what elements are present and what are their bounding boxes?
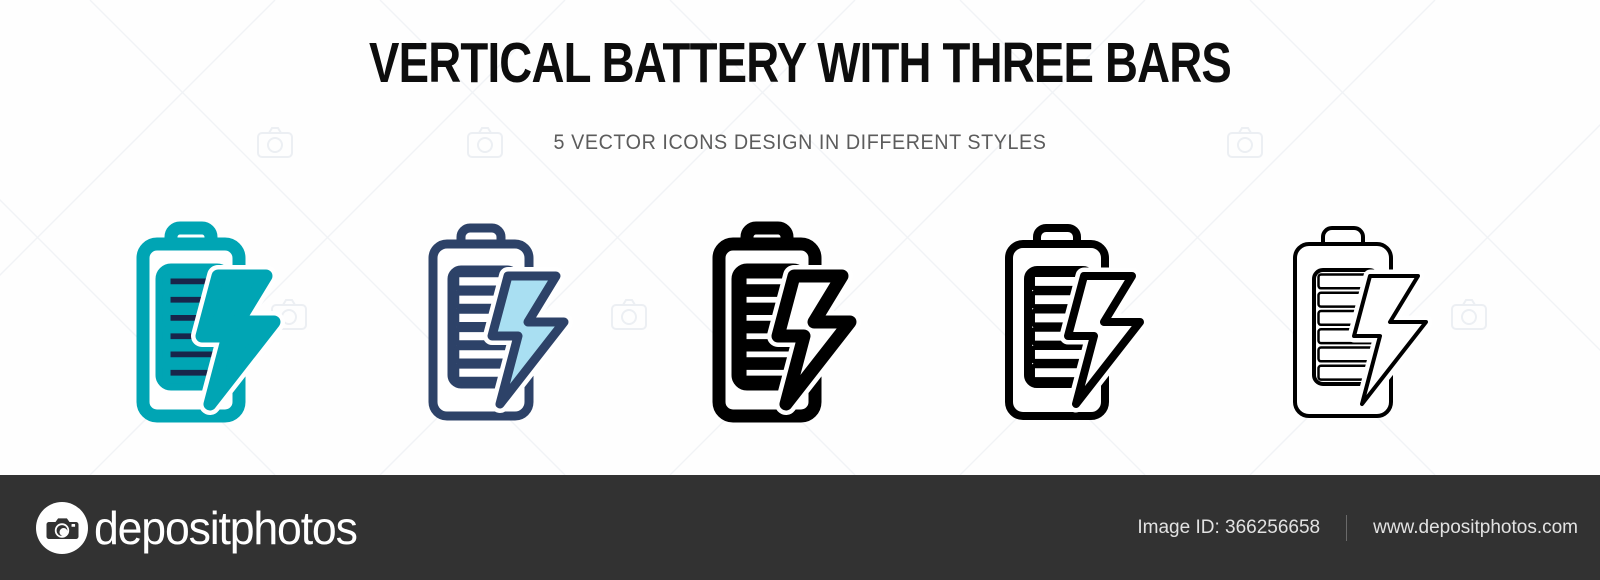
image-id-label: Image ID: 366256658	[1137, 517, 1346, 539]
website-link[interactable]: www.depositphotos.com	[1347, 517, 1578, 539]
page-subtitle: 5 VECTOR ICONS DESIGN IN DIFFERENT STYLE…	[48, 131, 1552, 155]
vertical-battery-three-bars-regular[interactable]	[976, 218, 1176, 426]
brand-wordmark: depositphotos	[94, 505, 357, 551]
vertical-battery-three-bars-duotone-outline[interactable]	[400, 218, 600, 426]
icon-variant-row	[0, 218, 1600, 426]
brand-logo[interactable]: depositphotos	[36, 502, 365, 554]
page-title: VERTICAL BATTERY WITH THREE BARS	[160, 33, 1440, 93]
vertical-battery-three-bars-bold[interactable]	[686, 218, 886, 426]
screenshot-root: VERTICAL BATTERY WITH THREE BARS 5 VECTO…	[0, 0, 1600, 580]
camera-icon	[36, 502, 88, 554]
footer-bar: depositphotos Image ID: 366256658 www.de…	[0, 475, 1600, 580]
vertical-battery-three-bars-duotone-filled[interactable]	[110, 218, 310, 426]
footer-meta: Image ID: 366256658 www.depositphotos.co…	[1137, 475, 1578, 580]
vertical-battery-three-bars-thin[interactable]	[1262, 218, 1462, 426]
